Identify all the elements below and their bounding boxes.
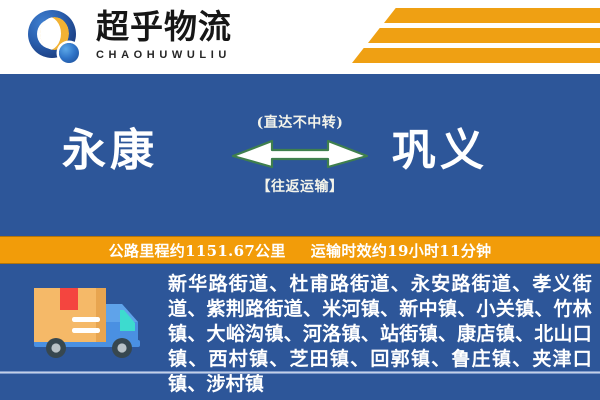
brand-block: 超乎物流 CHAOHUWULIU (96, 8, 232, 61)
roundtrip-shipping-note: 【往返运输】 (215, 176, 385, 196)
route-panel: 永康 巩义 (直达不中转) 【往返运输】 (0, 74, 600, 236)
truck-svg (28, 278, 158, 364)
coverage-panel: 新华路街道、杜甫路街道、永安路街道、孝义街道、紫荆路街道、米河镇、新中镇、小关镇… (0, 264, 600, 400)
arrow-svg (230, 136, 370, 170)
destination-city: 巩义 (392, 124, 488, 178)
delivery-truck-icon (28, 278, 158, 364)
logistics-route-poster: 超乎物流 CHAOHUWULIU 永康 巩义 (直达不中转) 【往返运输】 公路… (0, 0, 600, 400)
stripe-3 (352, 48, 600, 63)
header-bar: 超乎物流 CHAOHUWULIU (0, 0, 600, 74)
orange-diagonal-stripes-icon (340, 8, 600, 66)
brand-name-en: CHAOHUWULIU (96, 49, 232, 61)
double-headed-arrow-icon (230, 136, 370, 170)
transit-duration-text: 运输时效约19小时11分钟 (311, 242, 492, 260)
coverage-areas-text: 新华路街道、杜甫路街道、永安路街道、孝义街道、紫荆路街道、米河镇、新中镇、小关镇… (168, 272, 592, 397)
brand-name-cn: 超乎物流 (96, 8, 232, 46)
logo-accent-dot (59, 43, 79, 63)
panel-divider-line (0, 371, 600, 374)
direct-shipping-note: (直达不中转) (215, 112, 385, 132)
stripe-2 (368, 28, 600, 43)
road-distance-text: 公路里程约1151.67公里 (109, 242, 286, 260)
distance-duration-band: 公路里程约1151.67公里 运输时效约19小时11分钟 (0, 236, 600, 264)
band-text-group: 公路里程约1151.67公里 运输时效约19小时11分钟 (109, 240, 492, 261)
circle-moon-logo-icon (28, 10, 86, 66)
origin-city: 永康 (62, 124, 158, 178)
stripe-1 (384, 8, 600, 23)
route-middle-block: (直达不中转) 【往返运输】 (215, 112, 385, 196)
